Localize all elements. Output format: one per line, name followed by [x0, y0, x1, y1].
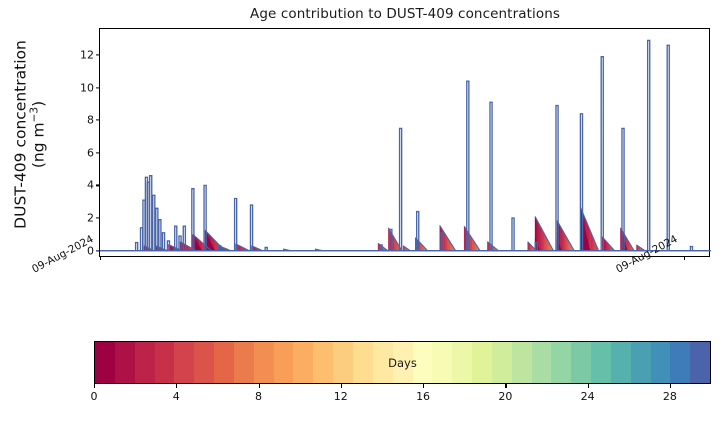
colorbar-tick-label: 24 [581, 390, 595, 403]
figure-canvas: Age contribution to DUST-409 concentrati… [0, 0, 724, 425]
colorbar-swatch [452, 342, 472, 383]
x-axis-tick-mark [684, 256, 685, 260]
colorbar-tick-label: 12 [334, 390, 348, 403]
colorbar-swatch [670, 342, 690, 383]
colorbar-tick-mark [423, 384, 424, 388]
timeseries-plot [100, 29, 711, 258]
colorbar-swatch [254, 342, 274, 383]
colorbar-swatch [115, 342, 135, 383]
y-axis-label-line2: (ng m−3) [30, 40, 47, 229]
y-axis-tick-mark [96, 217, 100, 218]
y-axis-tick-mark [96, 152, 100, 153]
colorbar-swatch [333, 342, 353, 383]
colorbar-tick-mark [588, 384, 589, 388]
colorbar-swatch [532, 342, 552, 383]
colorbar-tick-mark [94, 384, 95, 388]
y-axis-tick-mark [96, 250, 100, 251]
y-axis-tick-label: 4 [87, 179, 94, 192]
colorbar-swatch [274, 342, 294, 383]
colorbar-swatch [472, 342, 492, 383]
colorbar-swatch [690, 342, 710, 383]
colorbar-swatch [492, 342, 512, 383]
colorbar-tick-label: 16 [416, 390, 430, 403]
colorbar-swatch [373, 342, 393, 383]
y-axis-tick-label: 6 [87, 146, 94, 159]
colorbar-tick-mark [176, 384, 177, 388]
y-axis-label-line1: DUST-409 concentration [12, 40, 30, 229]
colorbar-swatch [194, 342, 214, 383]
y-axis-tick-mark [96, 87, 100, 88]
colorbar-swatch [95, 342, 115, 383]
colorbar[interactable] [94, 341, 711, 384]
y-axis-tick-label: 8 [87, 114, 94, 127]
colorbar-swatch [353, 342, 373, 383]
colorbar-swatch [571, 342, 591, 383]
main-plot-axes: 02468101209-Aug-202409-Aug-2024 [99, 28, 710, 257]
x-axis-tick-mark [100, 256, 101, 260]
y-axis-tick-mark [96, 120, 100, 121]
colorbar-swatch [611, 342, 631, 383]
colorbar-tick-label: 8 [255, 390, 262, 403]
y-axis-tick-label: 12 [80, 49, 94, 62]
colorbar-tick-mark [670, 384, 671, 388]
colorbar-swatch [432, 342, 452, 383]
colorbar-swatch [135, 342, 155, 383]
colorbar-swatch [293, 342, 313, 383]
colorbar-tick-label: 4 [173, 390, 180, 403]
colorbar-tick-mark [259, 384, 260, 388]
page-title: Age contribution to DUST-409 concentrati… [99, 6, 711, 22]
colorbar-swatch [174, 342, 194, 383]
colorbar-swatch [631, 342, 651, 383]
colorbar-swatch [512, 342, 532, 383]
colorbar-swatch [214, 342, 234, 383]
colorbar-swatch [234, 342, 254, 383]
colorbar-swatch [413, 342, 433, 383]
y-axis-tick-label: 2 [87, 212, 94, 225]
y-axis-label-exponent: −3 [28, 107, 40, 123]
colorbar-swatch [551, 342, 571, 383]
colorbar-swatch [393, 342, 413, 383]
y-axis-tick-mark [96, 185, 100, 186]
y-axis-tick-label: 10 [80, 81, 94, 94]
colorbar-tick-mark [341, 384, 342, 388]
colorbar-tick-label: 20 [498, 390, 512, 403]
total-concentration-line [100, 40, 711, 250]
y-axis-tick-mark [96, 54, 100, 55]
colorbar-tick-label: 0 [91, 390, 98, 403]
colorbar-swatch [313, 342, 333, 383]
colorbar-tick-mark [505, 384, 506, 388]
colorbar-swatch [155, 342, 175, 383]
colorbar-tick-label: 28 [663, 390, 677, 403]
colorbar-swatch [591, 342, 611, 383]
colorbar-swatch [651, 342, 671, 383]
